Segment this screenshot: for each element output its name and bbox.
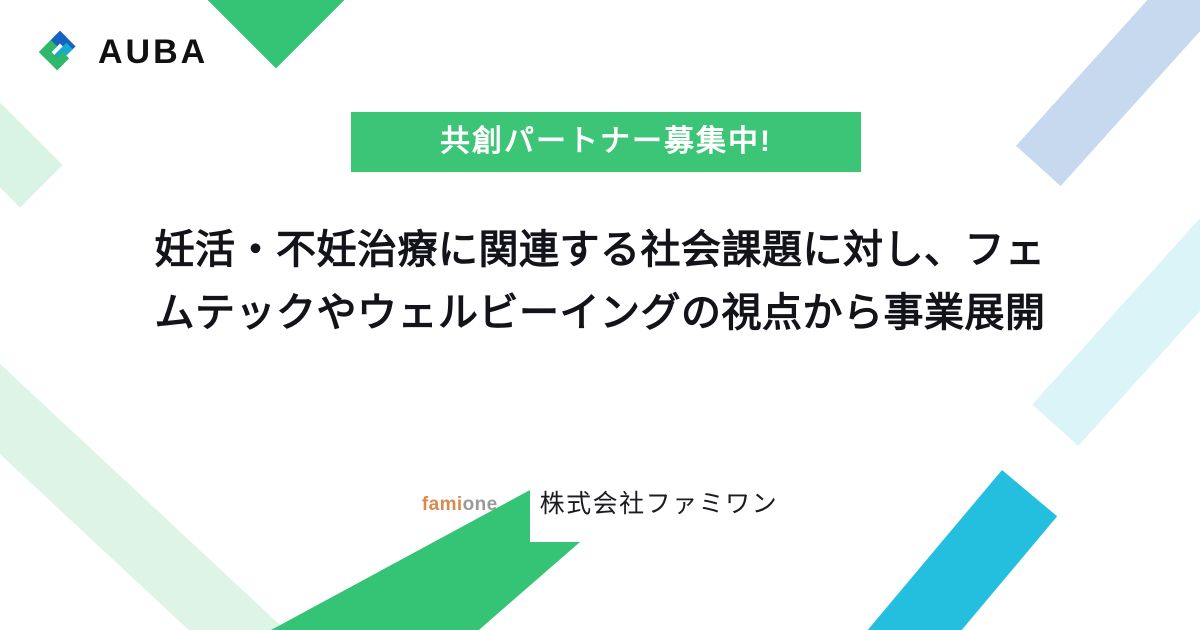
headline-line-2: ムテックやウェルビーイングの視点から事業展開	[0, 282, 1200, 345]
company-name: 株式会社ファミワン	[540, 492, 779, 517]
headline-line-1: 妊活・不妊治療に関連する社会課題に対し、フェ	[0, 219, 1200, 282]
ogp-card: AUBA 共創パートナー募集中! 妊活・不妊治療に関連する社会課題に対し、フェ …	[0, 0, 1200, 630]
auba-diamond-logo-icon	[36, 28, 84, 76]
famione-logo-part-one: fami	[422, 494, 463, 515]
decoration-mint-bar-bottom-right	[807, 548, 984, 630]
famione-logo: famione	[422, 495, 498, 514]
decoration-mint-bar-bottom-left	[0, 352, 331, 630]
famione-logo-part-two: one	[463, 494, 498, 515]
brand-lockup[interactable]: AUBA	[36, 28, 208, 76]
recruiting-badge: 共創パートナー募集中!	[351, 112, 861, 172]
recruiting-badge-label: 共創パートナー募集中!	[440, 127, 772, 157]
headline: 妊活・不妊治療に関連する社会課題に対し、フェ ムテックやウェルビーイングの視点か…	[0, 219, 1200, 345]
footer-company-block: famione 株式会社ファミワン	[0, 492, 1200, 517]
brand-wordmark: AUBA	[98, 35, 208, 69]
decoration-blue-bar-top-right	[1016, 0, 1200, 186]
decoration-green-diamond-top	[200, 0, 353, 68]
